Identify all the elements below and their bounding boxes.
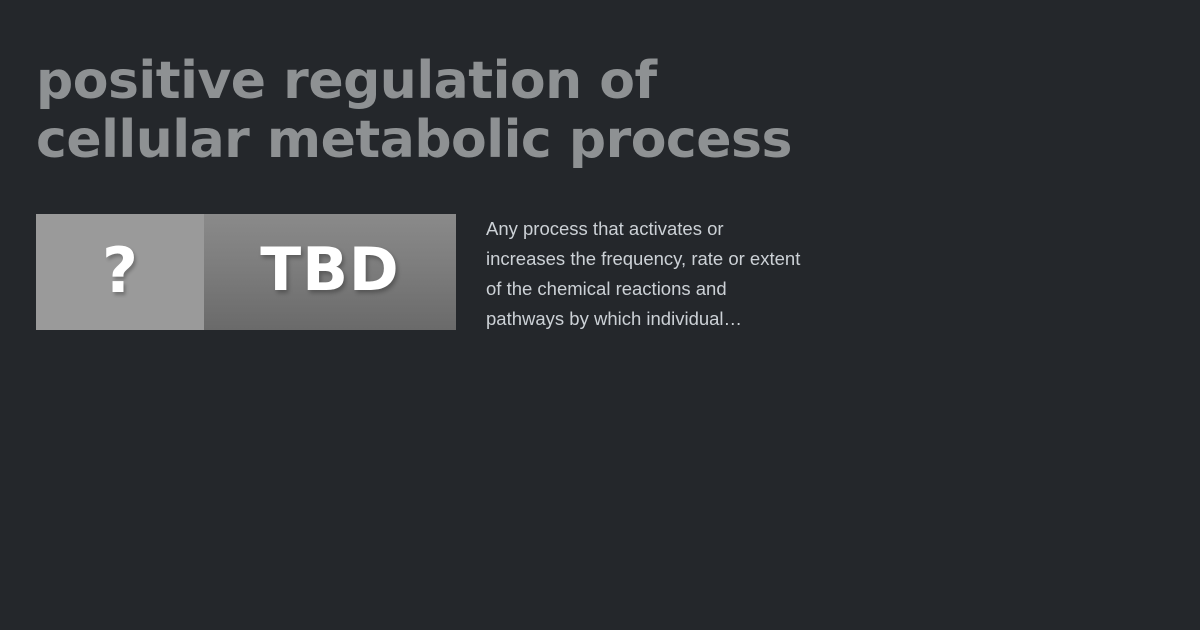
- question-mark-icon: ?: [102, 240, 138, 302]
- preview-card: positive regulation of cellular metaboli…: [0, 0, 1200, 630]
- tbd-label: TBD: [260, 240, 399, 300]
- placeholder-thumbnail: ? TBD: [36, 214, 456, 330]
- description-text: Any process that activates or increases …: [486, 214, 806, 334]
- thumbnail-question-panel: ?: [36, 214, 204, 330]
- thumbnail-tbd-panel: TBD: [204, 214, 456, 330]
- page-title: positive regulation of cellular metaboli…: [36, 52, 1036, 170]
- content-row: ? TBD Any process that activates or incr…: [36, 214, 1166, 334]
